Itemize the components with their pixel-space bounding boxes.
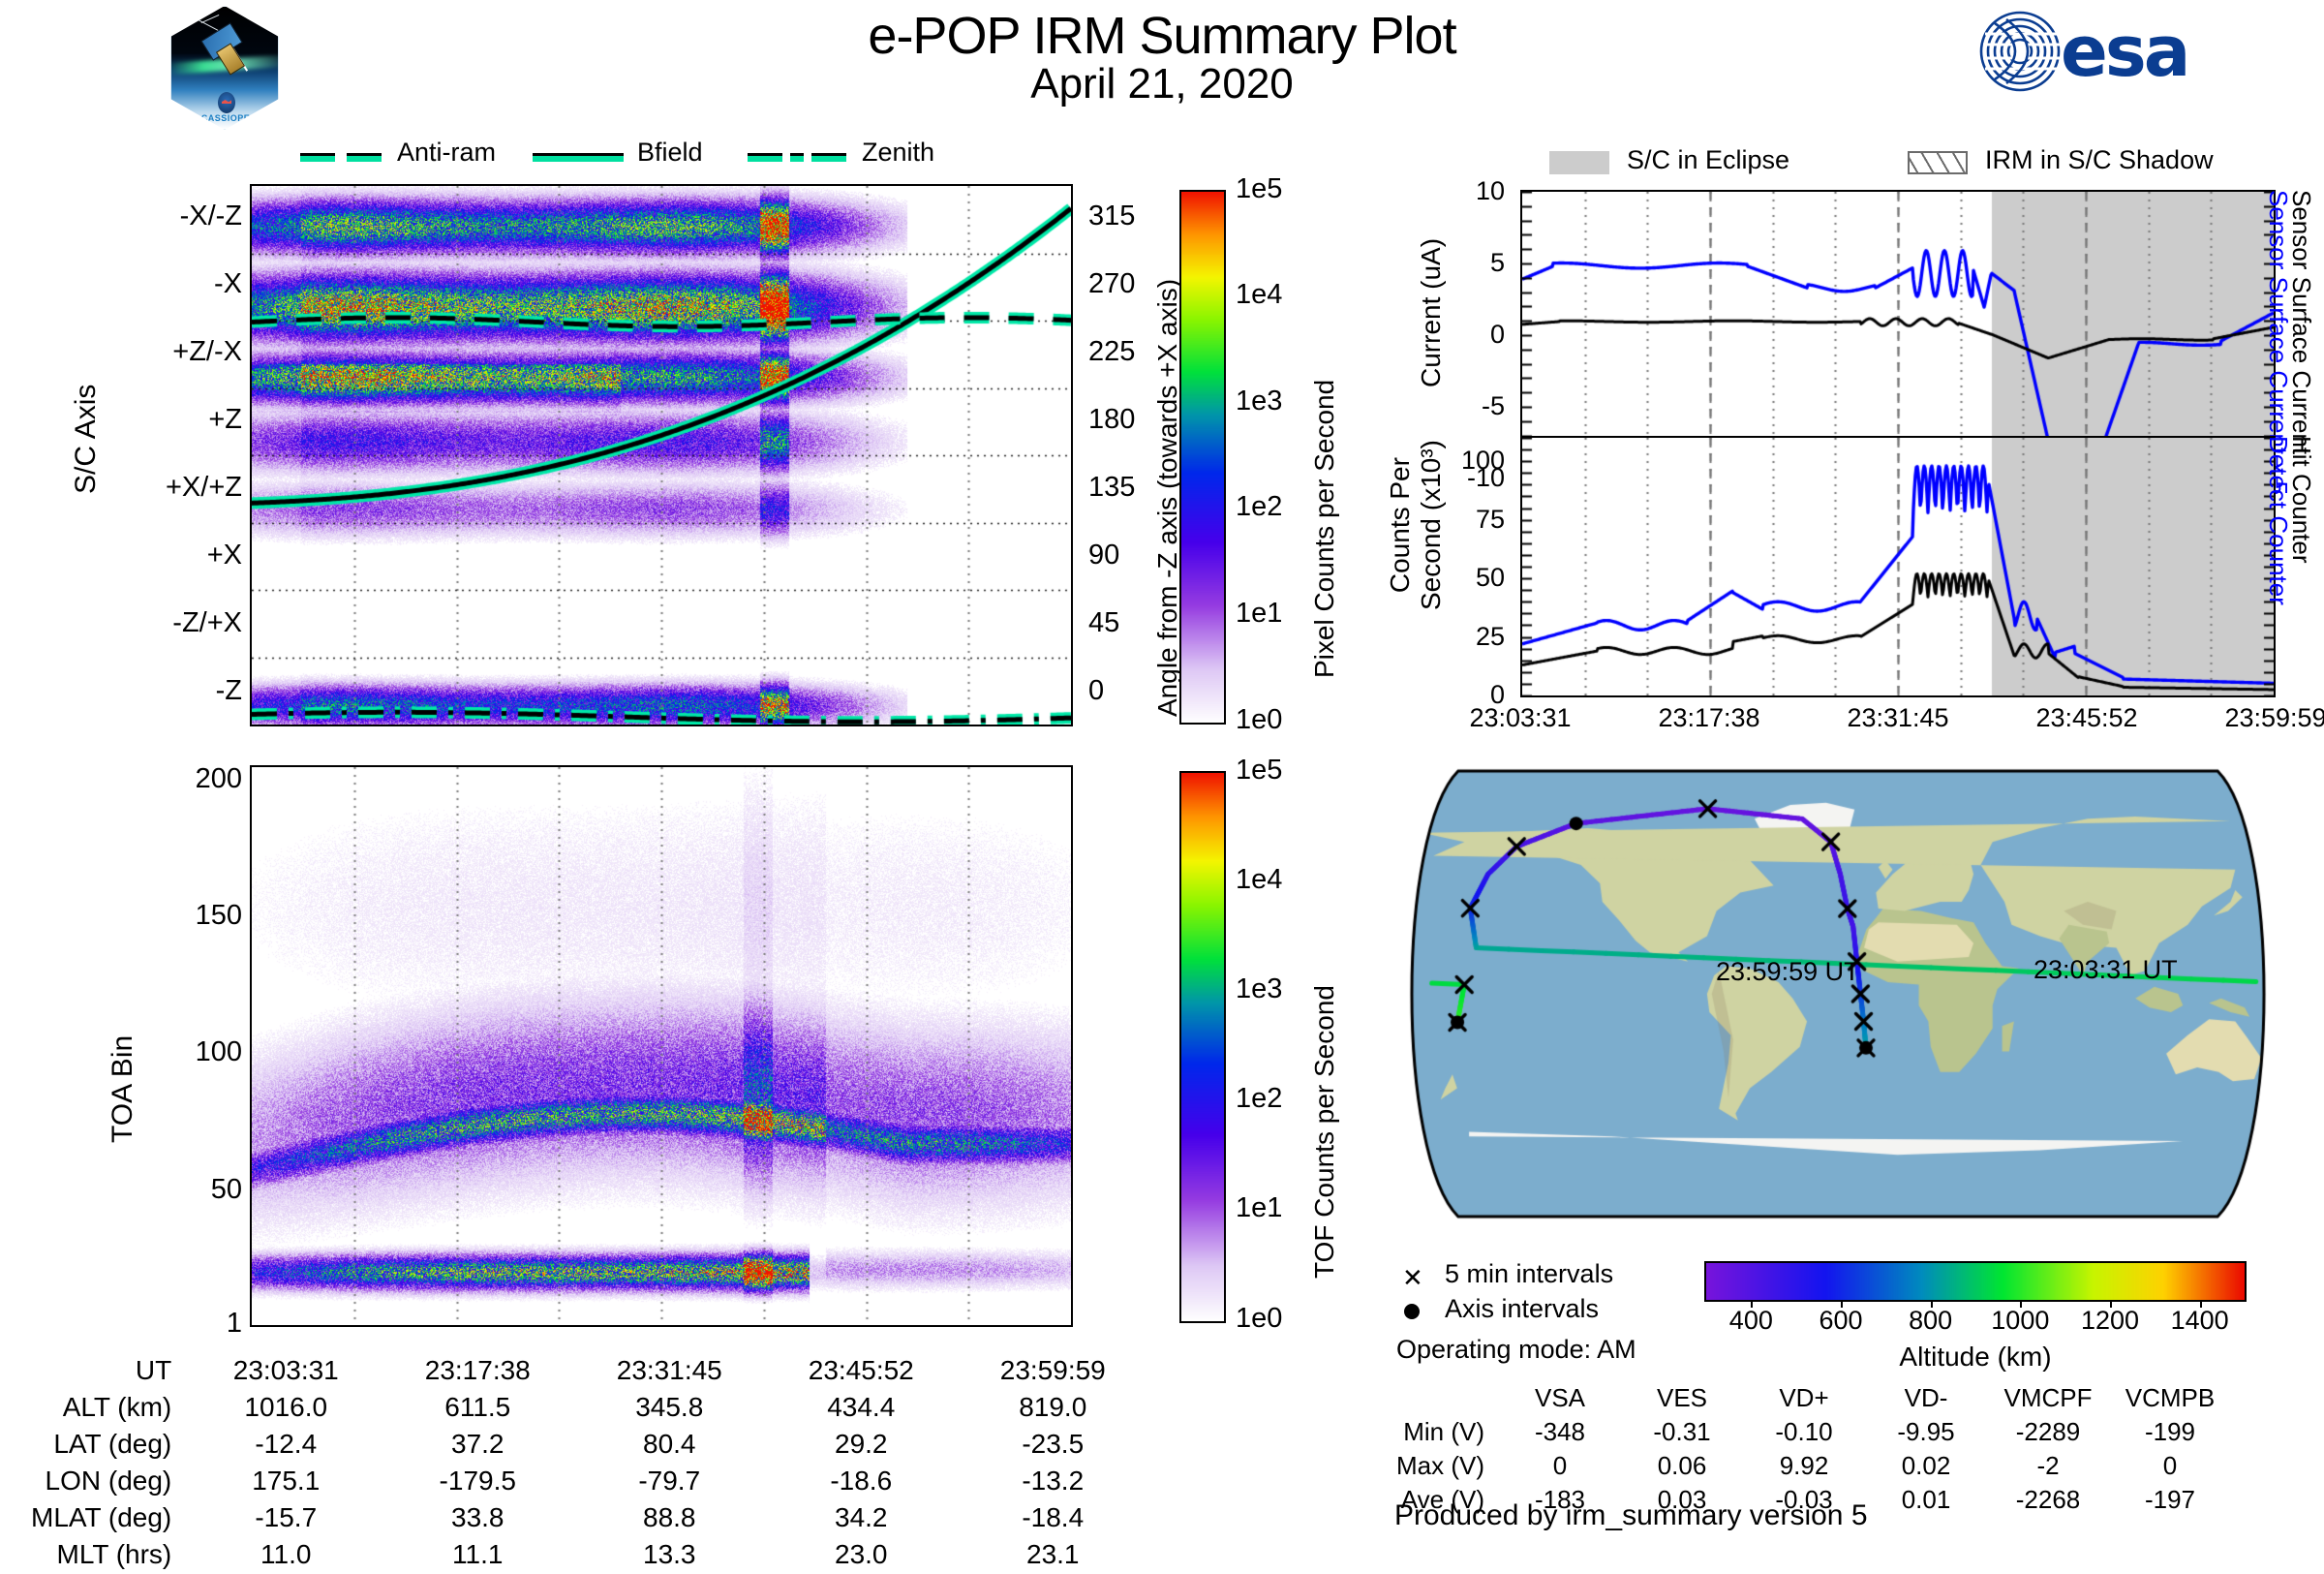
table-cell: -2289 — [1988, 1416, 2108, 1448]
tof-counts-colorbar — [1179, 771, 1226, 1323]
tick-label: -Z — [97, 675, 242, 707]
colorbar-tick-mark — [1751, 1300, 1753, 1308]
legend-label-shadow: IRM in S/C Shadow — [1985, 145, 2214, 175]
colorbar-tick-mark — [1931, 1300, 1933, 1308]
colorbar-tick-mark — [2200, 1300, 2202, 1308]
colorbar-tick-label: 1e2 — [1236, 491, 1282, 523]
badge-label: CASSIOPE — [171, 113, 279, 123]
row-label: Min (V) — [1396, 1416, 1498, 1448]
tick-label: 45 — [1088, 607, 1119, 639]
tick-label: 5 — [1490, 248, 1505, 278]
colorbar-tick-mark — [2020, 1300, 2022, 1308]
tick-label: -Z/+X — [97, 607, 242, 639]
table-cell: 23.0 — [766, 1537, 956, 1572]
row-label: LON (deg) — [31, 1464, 189, 1498]
altitude-colorbar — [1704, 1261, 2247, 1302]
colorbar-tick-mark — [1841, 1300, 1843, 1308]
table-cell: -199 — [2110, 1416, 2230, 1448]
table-cell: 175.1 — [191, 1464, 381, 1498]
tick-label: 0 — [1490, 320, 1505, 350]
colorbar-tick-label: 1e3 — [1236, 386, 1282, 417]
right-panels-time-axis: 23:03:3123:17:3823:31:4523:45:5223:59:59 — [1520, 703, 2276, 742]
table-cell: -79.7 — [574, 1464, 764, 1498]
table-cell: -15.7 — [191, 1500, 381, 1535]
table-cell: 33.8 — [382, 1500, 572, 1535]
colorbar-tick-mark — [2110, 1300, 2112, 1308]
table-cell: 11.1 — [382, 1537, 572, 1572]
pixel-counts-colorbar — [1179, 190, 1226, 725]
table-cell: -18.4 — [958, 1500, 1147, 1535]
tick-label: 135 — [1088, 472, 1135, 504]
table-row: MLAT (deg)-15.733.888.834.2-18.4 — [31, 1500, 1147, 1535]
table-cell: 37.2 — [382, 1427, 572, 1462]
map-start-time-label: 23:03:31 UT — [2033, 955, 2178, 985]
time-tick-label: 23:17:38 — [1658, 703, 1759, 733]
table-cell: 9.92 — [1744, 1450, 1864, 1482]
table-row: Min (V)-348-0.31-0.10-9.95-2289-199 — [1396, 1416, 2230, 1448]
table-cell: 23.1 — [958, 1537, 1147, 1572]
tick-label: 10 — [1476, 176, 1505, 206]
tick-label: 180 — [1088, 404, 1135, 436]
page-subtitle: April 21, 2020 — [0, 60, 2324, 108]
table-cell: -12.4 — [191, 1427, 381, 1462]
table-cell: 434.4 — [766, 1390, 956, 1425]
svg-text:esa: esa — [2061, 11, 2187, 92]
row-label: MLT (hrs) — [31, 1537, 189, 1572]
legend-label-anti-ram: Anti-ram — [397, 138, 496, 168]
time-tick-label: 23:31:45 — [1847, 703, 1948, 733]
tick-label: 1 — [136, 1308, 242, 1340]
row-label: Max (V) — [1396, 1450, 1498, 1482]
orbit-ground-track-map: 23:03:31 UT 23:59:59 UT — [1391, 765, 2285, 1222]
map-legend-label-axis: Axis intervals — [1445, 1294, 1599, 1324]
colorbar-tick-label: 1e0 — [1236, 1303, 1282, 1335]
legend-swatch-eclipse — [1549, 151, 1609, 174]
table-row: LAT (deg)-12.437.280.429.2-23.5 — [31, 1427, 1147, 1462]
colorbar-tick-label: 800 — [1909, 1306, 1952, 1336]
colorbar-tick-label: 1e1 — [1236, 1192, 1282, 1224]
esa-logo-icon: esa — [1977, 10, 2248, 93]
counts-ylabel-line1: Counts Per — [1385, 440, 1416, 610]
footer-produced-by: Produced by irm_summary version 5 — [1394, 1499, 1868, 1532]
tick-label: 25 — [1476, 622, 1505, 652]
colorbar-tick-label: 1e4 — [1236, 864, 1282, 896]
table-cell: -197 — [2110, 1484, 2230, 1516]
table-cell: 819.0 — [958, 1390, 1147, 1425]
ephemeris-table: UT23:03:3123:17:3823:31:4523:45:5223:59:… — [29, 1351, 1149, 1574]
tick-label: 315 — [1088, 201, 1135, 232]
time-tick-label: 23:03:31 — [1469, 703, 1571, 733]
map-end-time-label: 23:59:59 UT — [1716, 957, 1860, 987]
colorbar-tick-label: 1e4 — [1236, 279, 1282, 311]
operating-mode-label: Operating mode: AM — [1396, 1335, 1636, 1365]
colorbar-tick-label: 600 — [1819, 1306, 1862, 1336]
tick-label: -X — [97, 268, 242, 300]
table-cell: -2268 — [1988, 1484, 2108, 1516]
table-cell: 23:31:45 — [574, 1353, 764, 1388]
time-tick-label: 23:59:59 — [2224, 703, 2324, 733]
table-cell: 0 — [1500, 1450, 1620, 1482]
altitude-colorbar-title: Altitude (km) — [1704, 1342, 2247, 1373]
table-row: Max (V)00.069.920.02-20 — [1396, 1450, 2230, 1482]
colorbar-tick-label: 1e0 — [1236, 704, 1282, 736]
table-cell: 88.8 — [574, 1500, 764, 1535]
legend-line-zenith-2 — [811, 153, 846, 162]
tick-label: 100 — [136, 1036, 242, 1068]
table-cell: 23:03:31 — [191, 1353, 381, 1388]
colorbar-tick-label: 1400 — [2171, 1306, 2229, 1336]
legend-line-anti-ram — [300, 153, 335, 162]
tick-label: 0 — [1088, 675, 1104, 707]
legend-line-zenith-dot — [790, 153, 804, 162]
voltage-column-header: VES — [1622, 1382, 1742, 1414]
eclipse-shadow-legend: S/C in Eclipse IRM in S/C Shadow — [1549, 145, 2285, 178]
tick-label: 90 — [1088, 540, 1119, 571]
sc-axis-spectrogram — [250, 184, 1073, 726]
row-label: UT — [31, 1353, 189, 1388]
legend-line-anti-ram-2 — [347, 153, 382, 162]
voltage-column-header: VSA — [1500, 1382, 1620, 1414]
tick-label: 150 — [136, 900, 242, 932]
colorbar-tick-label: 1e5 — [1236, 173, 1282, 205]
marker-dot-icon — [1404, 1304, 1420, 1319]
map-legend-label-5min: 5 min intervals — [1445, 1259, 1613, 1289]
sc-axis-ytick-labels: -X/-Z-X+Z/-X+Z+X/+Z+X-Z/+X-Z — [97, 184, 242, 726]
counts-ytick-labels: 1007550250 — [1433, 436, 1513, 697]
colorbar-tick-label: 1e2 — [1236, 1083, 1282, 1115]
page-title: e-POP IRM Summary Plot — [0, 6, 2324, 66]
table-cell: -13.2 — [958, 1464, 1147, 1498]
tick-label: -5 — [1482, 391, 1505, 421]
table-cell: 0.02 — [1866, 1450, 1986, 1482]
table-cell: 29.2 — [766, 1427, 956, 1462]
colorbar-tick-label: 1e1 — [1236, 598, 1282, 630]
legend-label-eclipse: S/C in Eclipse — [1627, 145, 1789, 175]
table-cell: -0.31 — [1622, 1416, 1742, 1448]
pixel-counts-colorbar-ticks: 1e51e41e31e21e11e0 — [1232, 184, 1319, 731]
table-cell: 23:17:38 — [382, 1353, 572, 1388]
time-tick-label: 23:45:52 — [2035, 703, 2137, 733]
voltage-column-header: VD+ — [1744, 1382, 1864, 1414]
table-cell: 0 — [2110, 1450, 2230, 1482]
table-cell: 23:45:52 — [766, 1353, 956, 1388]
table-row: MLT (hrs)11.011.113.323.023.1 — [31, 1537, 1147, 1572]
table-cell: -9.95 — [1866, 1416, 1986, 1448]
table-row: LON (deg)175.1-179.5-79.7-18.6-13.2 — [31, 1464, 1147, 1498]
legend-label-bfield: Bfield — [637, 138, 703, 168]
legend-line-bfield — [533, 153, 624, 162]
table-cell: -23.5 — [958, 1427, 1147, 1462]
marker-x-icon: ✕ — [1402, 1263, 1423, 1293]
table-cell: 0.01 — [1866, 1484, 1986, 1516]
tick-label: -X/-Z — [97, 201, 242, 232]
table-cell: 611.5 — [382, 1390, 572, 1425]
row-label: LAT (deg) — [31, 1427, 189, 1462]
tick-label: 50 — [1476, 563, 1505, 593]
voltage-column-header: VCMPB — [2110, 1382, 2230, 1414]
colorbar-tick-label: 1e5 — [1236, 755, 1282, 787]
legend-swatch-shadow — [1908, 151, 1968, 174]
table-cell: -2 — [1988, 1450, 2108, 1482]
table-cell: -0.10 — [1744, 1416, 1864, 1448]
tick-label: 270 — [1088, 268, 1135, 300]
tick-label: +Z/-X — [97, 336, 242, 368]
colorbar-tick-label: 1e3 — [1236, 973, 1282, 1005]
row-label: ALT (km) — [31, 1390, 189, 1425]
table-cell: 345.8 — [574, 1390, 764, 1425]
tick-label: 200 — [136, 763, 242, 795]
tick-label: +X — [97, 540, 242, 571]
toa-bin-spectrogram — [250, 765, 1073, 1327]
table-row: UT23:03:3123:17:3823:31:4523:45:5223:59:… — [31, 1353, 1147, 1388]
legend-line-zenith — [748, 153, 782, 162]
table-cell: 13.3 — [574, 1537, 764, 1572]
tof-counts-colorbar-ticks: 1e51e41e31e21e11e0 — [1232, 765, 1319, 1329]
cassiope-mission-badge-icon: CASSIOPE — [170, 6, 279, 130]
colorbar-tick-label: 400 — [1729, 1306, 1773, 1336]
table-cell: 1016.0 — [191, 1390, 381, 1425]
tick-label: +X/+Z — [97, 472, 242, 504]
map-marker-legend: ✕ 5 min intervals Axis intervals Operati… — [1394, 1259, 1714, 1375]
altitude-colorbar-ticks: 400600800100012001400 — [1704, 1306, 2247, 1339]
colorbar-tick-label: 1200 — [2081, 1306, 2139, 1336]
table-cell: -179.5 — [382, 1464, 572, 1498]
tick-label: 100 — [1461, 446, 1505, 476]
table-cell: -18.6 — [766, 1464, 956, 1498]
legend-label-zenith: Zenith — [862, 138, 934, 168]
voltage-column-header: VD- — [1866, 1382, 1986, 1414]
table-row: ALT (km)1016.0611.5345.8434.4819.0 — [31, 1390, 1147, 1425]
toa-bin-ytick-labels: 200150100501 — [136, 765, 242, 1327]
voltage-corner — [1396, 1382, 1498, 1414]
tick-label: +Z — [97, 404, 242, 436]
table-cell: 0.06 — [1622, 1450, 1742, 1482]
voltage-column-header: VMCPF — [1988, 1382, 2108, 1414]
counts-per-second-plot — [1520, 436, 2276, 697]
voltage-summary-table: VSAVESVD+VD-VMCPFVCMPB Min (V)-348-0.31-… — [1394, 1380, 2232, 1518]
table-cell: 11.0 — [191, 1537, 381, 1572]
table-cell: -348 — [1500, 1416, 1620, 1448]
table-cell: 23:59:59 — [958, 1353, 1147, 1388]
tick-label: 225 — [1088, 336, 1135, 368]
sc-axis-angle-tick-labels: 31527022518013590450 — [1083, 184, 1160, 726]
tick-label: 50 — [136, 1174, 242, 1206]
table-cell: 80.4 — [574, 1427, 764, 1462]
spectrogram-overlay-legend: Anti-ram Bfield Zenith — [242, 141, 920, 174]
row-label: MLAT (deg) — [31, 1500, 189, 1535]
tick-label: 75 — [1476, 505, 1505, 535]
table-cell: 34.2 — [766, 1500, 956, 1535]
colorbar-tick-label: 1000 — [1991, 1306, 2049, 1336]
